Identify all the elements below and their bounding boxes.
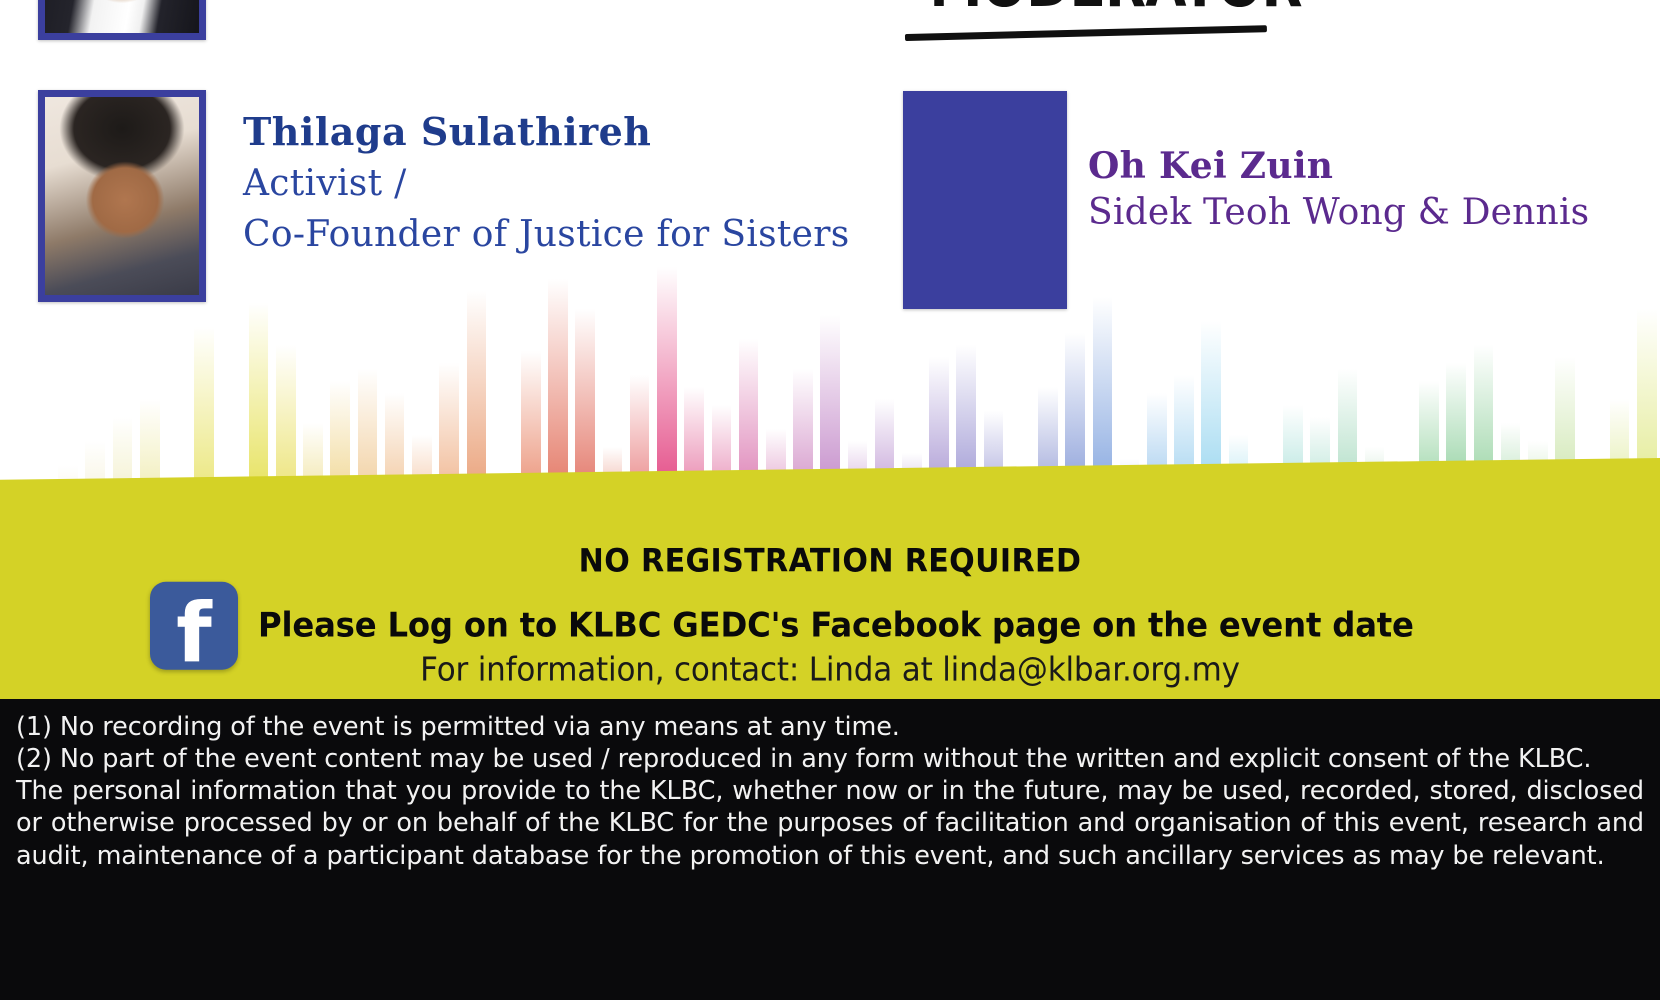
disclaimer-clause-3: The personal information that you provid… [16, 775, 1644, 871]
speaker-photo-cropped-top [38, 0, 206, 40]
banner-content: NO REGISTRATION REQUIRED f Please Log on… [0, 480, 1660, 730]
moderator-underline-rule [905, 25, 1267, 41]
event-poster: MODERATOR Thilaga Sulathireh Activist / … [0, 0, 1660, 1000]
speaker-name: Thilaga Sulathireh [243, 112, 850, 152]
photo-image [45, 0, 199, 33]
registration-banner: NO REGISTRATION REQUIRED f Please Log on… [0, 458, 1660, 730]
moderator-heading-block: MODERATOR [900, 0, 1320, 16]
speaker-photo-thilaga-sulathireh [38, 90, 206, 302]
moderator-firm: Sidek Teoh Wong & Dennis [1088, 190, 1589, 237]
photo-image [45, 97, 199, 295]
footer-disclaimer: (1) No recording of the event is permitt… [0, 699, 1660, 1000]
moderator-info-oh-kei-zuin: Oh Kei Zuin Sidek Teoh Wong & Dennis [1088, 148, 1589, 237]
moderator-label: MODERATOR [929, 0, 1290, 16]
speaker-role-line-1: Activist / [243, 158, 850, 209]
no-registration-headline: NO REGISTRATION REQUIRED [50, 542, 1610, 580]
contact-information-line: For information, contact: Linda at linda… [50, 650, 1610, 689]
speaker-role-line-2: Co-Founder of Justice for Sisters [243, 209, 850, 260]
moderator-name: Oh Kei Zuin [1088, 148, 1589, 186]
facebook-instruction-text: Please Log on to KLBC GEDC's Facebook pa… [258, 606, 1414, 646]
speaker-info-thilaga: Thilaga Sulathireh Activist / Co-Founder… [243, 112, 850, 260]
photo-image [910, 98, 1060, 302]
disclaimer-clause-2: (2) No part of the event content may be … [16, 743, 1644, 775]
disclaimer-clause-1: (1) No recording of the event is permitt… [16, 711, 1644, 743]
moderator-photo-oh-kei-zuin [903, 91, 1067, 309]
